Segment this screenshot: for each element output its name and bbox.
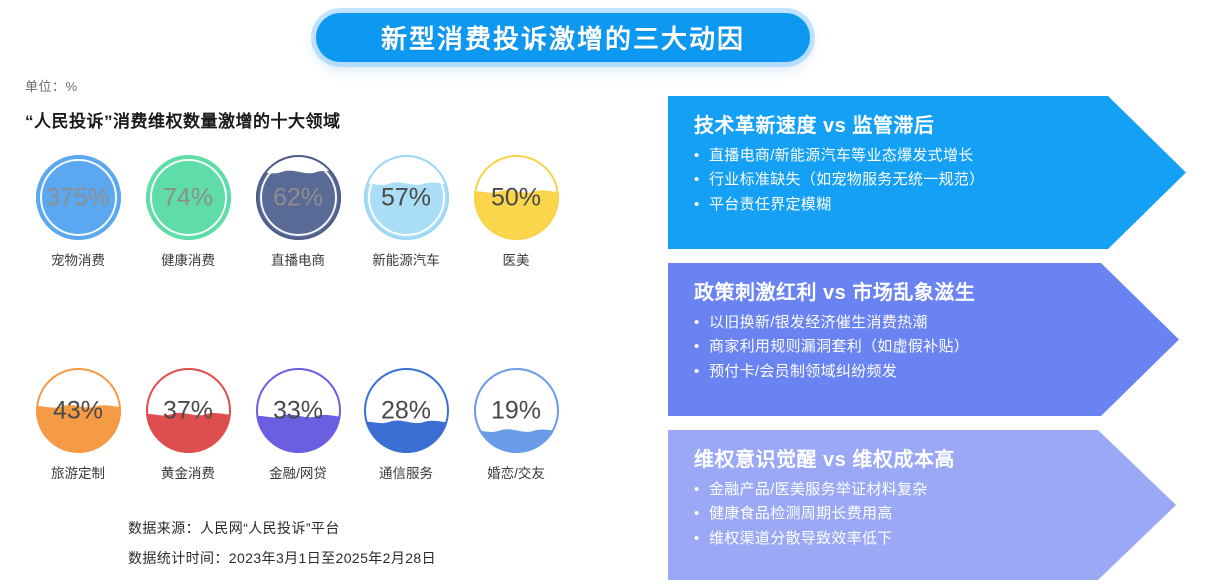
list-item: 健康食品检测周期长费用高 [694, 502, 1154, 526]
gauge-label: 通信服务 [358, 462, 454, 482]
section-title: “人民投诉”消费维权数量激增的十大领域 [25, 107, 341, 132]
gauge-circle: 62% [256, 155, 341, 240]
gauge-value: 375% [36, 183, 121, 212]
gauge-label: 新能源汽车 [358, 249, 454, 269]
data-source-line: 数据来源：人民网“人民投诉”平台 [128, 518, 340, 538]
gauge-value: 57% [364, 183, 449, 212]
driver-arrow-1-bullets: 直播电商/新能源汽车等业态爆发式增长 行业标准缺失（如宠物服务无统一规范） 平台… [694, 144, 1164, 217]
gauge-value: 19% [474, 396, 559, 425]
gauge-label: 婚恋/交友 [468, 462, 564, 482]
gauge-gauges_row1-3: 62%直播电商 [250, 155, 346, 269]
infographic-canvas: 新型消费投诉激增的三大动因 单位：% “人民投诉”消费维权数量激增的十大领域 3… [0, 0, 1220, 586]
gauge-row-bottom: 43%旅游定制37%黄金消费33%金融/网贷28%通信服务19%婚恋/交友 [0, 368, 600, 488]
gauge-label: 医美 [468, 249, 564, 269]
list-item: 平台责任界定模糊 [694, 193, 1164, 217]
gauge-label: 金融/网贷 [250, 462, 346, 482]
list-item: 行业标准缺失（如宠物服务无统一规范） [694, 168, 1164, 192]
driver-arrow-3-heading: 维权意识觉醒 vs 维权成本高 [694, 443, 1154, 472]
gauge-value: 28% [364, 396, 449, 425]
list-item: 直播电商/新能源汽车等业态爆发式增长 [694, 144, 1164, 168]
page-title: 新型消费投诉激增的三大动因 [381, 19, 745, 56]
gauge-value: 50% [474, 183, 559, 212]
gauge-circle: 50% [474, 155, 559, 240]
driver-arrow-2: 政策刺激红利 vs 市场乱象滋生 以旧换新/银发经济催生消费热潮 商家利用规则漏… [668, 263, 1179, 416]
gauge-value: 62% [256, 183, 341, 212]
gauge-row-top: 375%宠物消费74%健康消费62%直播电商57%新能源汽车50%医美 [0, 155, 600, 275]
list-item: 金融产品/医美服务举证材料复杂 [694, 478, 1154, 502]
driver-arrow-1: 技术革新速度 vs 监管滞后 直播电商/新能源汽车等业态爆发式增长 行业标准缺失… [668, 96, 1186, 249]
list-item: 商家利用规则漏洞套利（如虚假补贴） [694, 335, 1157, 359]
gauge-gauges_row2-1: 43%旅游定制 [30, 368, 126, 482]
gauge-value: 37% [146, 396, 231, 425]
driver-arrow-1-heading: 技术革新速度 vs 监管滞后 [694, 109, 1164, 138]
unit-label: 单位：% [25, 76, 78, 95]
gauge-gauges_row2-4: 28%通信服务 [358, 368, 454, 482]
gauge-circle: 37% [146, 368, 231, 453]
list-item: 维权渠道分散导致效率低下 [694, 527, 1154, 551]
driver-arrow-2-heading: 政策刺激红利 vs 市场乱象滋生 [694, 276, 1157, 305]
page-title-banner: 新型消费投诉激增的三大动因 [316, 13, 810, 62]
gauge-circle: 43% [36, 368, 121, 453]
gauge-gauges_row2-2: 37%黄金消费 [140, 368, 236, 482]
driver-arrow-2-bullets: 以旧换新/银发经济催生消费热潮 商家利用规则漏洞套利（如虚假补贴） 预付卡/会员… [694, 311, 1157, 384]
gauge-value: 43% [36, 396, 121, 425]
list-item: 预付卡/会员制领域纠纷频发 [694, 360, 1157, 384]
gauge-gauges_row1-4: 57%新能源汽车 [358, 155, 454, 269]
gauge-value: 33% [256, 396, 341, 425]
gauge-gauges_row1-5: 50%医美 [468, 155, 564, 269]
gauge-label: 旅游定制 [30, 462, 126, 482]
gauge-label: 直播电商 [250, 249, 346, 269]
gauge-label: 健康消费 [140, 249, 236, 269]
gauge-gauges_row1-1: 375%宠物消费 [30, 155, 126, 269]
gauge-value: 74% [146, 183, 231, 212]
gauge-gauges_row1-2: 74%健康消费 [140, 155, 236, 269]
data-period-line: 数据统计时间：2023年3月1日至2025年2月28日 [128, 548, 436, 568]
gauge-label: 宠物消费 [30, 249, 126, 269]
gauge-circle: 375% [36, 155, 121, 240]
gauge-gauges_row2-5: 19%婚恋/交友 [468, 368, 564, 482]
gauge-circle: 74% [146, 155, 231, 240]
gauge-gauges_row2-3: 33%金融/网贷 [250, 368, 346, 482]
driver-arrow-3-bullets: 金融产品/医美服务举证材料复杂 健康食品检测周期长费用高 维权渠道分散导致效率低… [694, 478, 1154, 551]
gauge-circle: 19% [474, 368, 559, 453]
driver-arrow-3: 维权意识觉醒 vs 维权成本高 金融产品/医美服务举证材料复杂 健康食品检测周期… [668, 430, 1176, 580]
gauge-circle: 57% [364, 155, 449, 240]
gauge-circle: 33% [256, 368, 341, 453]
gauge-circle: 28% [364, 368, 449, 453]
list-item: 以旧换新/银发经济催生消费热潮 [694, 311, 1157, 335]
gauge-label: 黄金消费 [140, 462, 236, 482]
